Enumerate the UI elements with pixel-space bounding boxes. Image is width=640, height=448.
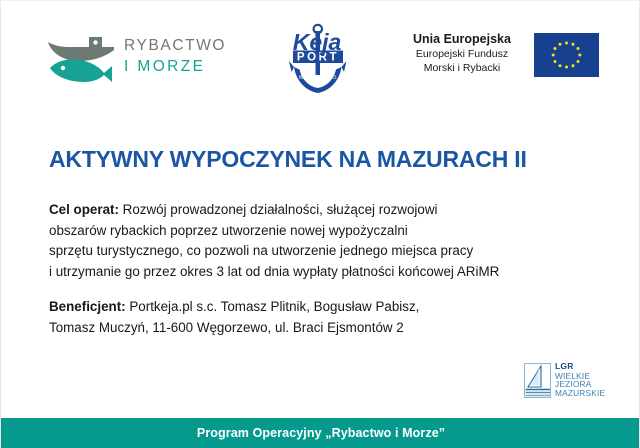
eu-title-label: Unia Europejska xyxy=(397,31,527,47)
svg-text:WĘGORZEWO: WĘGORZEWO xyxy=(299,75,337,81)
goal-line-2: obszarów rybackich poprzez utworzenie no… xyxy=(49,221,619,242)
goal-line-4: i utrzymanie go przez okres 3 lat od dni… xyxy=(49,262,619,283)
goal-line-1: Cel operat: Rozwój prowadzonej działalno… xyxy=(49,200,619,221)
footer-bar: Program Operacyjny „Rybactwo i Morze” xyxy=(1,418,640,448)
beneficiary-label: Beneficjent: xyxy=(49,299,126,314)
goal-line-3: sprzętu turystycznego, co pozwoli na utw… xyxy=(49,241,619,262)
logo-strip: RYBACTWO I MORZE PORT Keja xyxy=(1,1,640,113)
i-morze-label: I MORZE xyxy=(124,57,249,76)
lgr-wielkie-jeziora-mazurskie-logo: LGR WIELKIE JEZIORA MAZURSKIE xyxy=(524,362,610,400)
poster-canvas: RYBACTWO I MORZE PORT Keja xyxy=(0,0,640,448)
rybactwo-label: RYBACTWO xyxy=(124,36,249,55)
eu-wordmark: Unia Europejska Europejski Fundusz Morsk… xyxy=(397,31,527,75)
goal-line-1-text: Rozwój prowadzonej działalności, służące… xyxy=(119,202,438,217)
unia-europejska-logo: Unia Europejska Europejski Fundusz Morsk… xyxy=(397,31,602,83)
svg-text:Keja: Keja xyxy=(293,29,342,55)
sail-and-waves-icon xyxy=(524,363,552,398)
eu-flag-icon xyxy=(534,33,599,77)
lgr-word-mazurskie: MAZURSKIE xyxy=(555,389,611,398)
beneficiary-line-1-text: Portkeja.pl s.c. Tomasz Plitnik, Bogusła… xyxy=(126,299,420,314)
lgr-wordmark: LGR WIELKIE JEZIORA MAZURSKIE xyxy=(555,362,611,398)
eu-subtitle-line2: Morski i Rybacki xyxy=(397,61,527,75)
keja-port-logo: PORT Keja WĘGORZEWO xyxy=(278,23,358,95)
beneficiary-line-1: Beneficjent: Portkeja.pl s.c. Tomasz Pli… xyxy=(49,297,619,318)
goal-label: Cel operat: xyxy=(49,202,119,217)
boat-and-fish-icon xyxy=(46,35,120,85)
rybactwo-i-morze-wordmark: RYBACTWO I MORZE xyxy=(124,36,249,76)
goal-paragraph: Cel operat: Rozwój prowadzonej działalno… xyxy=(49,200,619,282)
footer-program-label: Program Operacyjny „Rybactwo i Morze” xyxy=(197,426,445,440)
beneficiary-paragraph: Beneficjent: Portkeja.pl s.c. Tomasz Pli… xyxy=(49,297,619,338)
beneficiary-line-2: Tomasz Muczyń, 11-600 Węgorzewo, ul. Bra… xyxy=(49,318,619,339)
eu-subtitle-line1: Europejski Fundusz xyxy=(397,47,527,61)
rybactwo-i-morze-logo: RYBACTWO I MORZE xyxy=(46,31,246,89)
page-title: AKTYWNY WYPOCZYNEK NA MAZURACH II xyxy=(49,145,609,173)
